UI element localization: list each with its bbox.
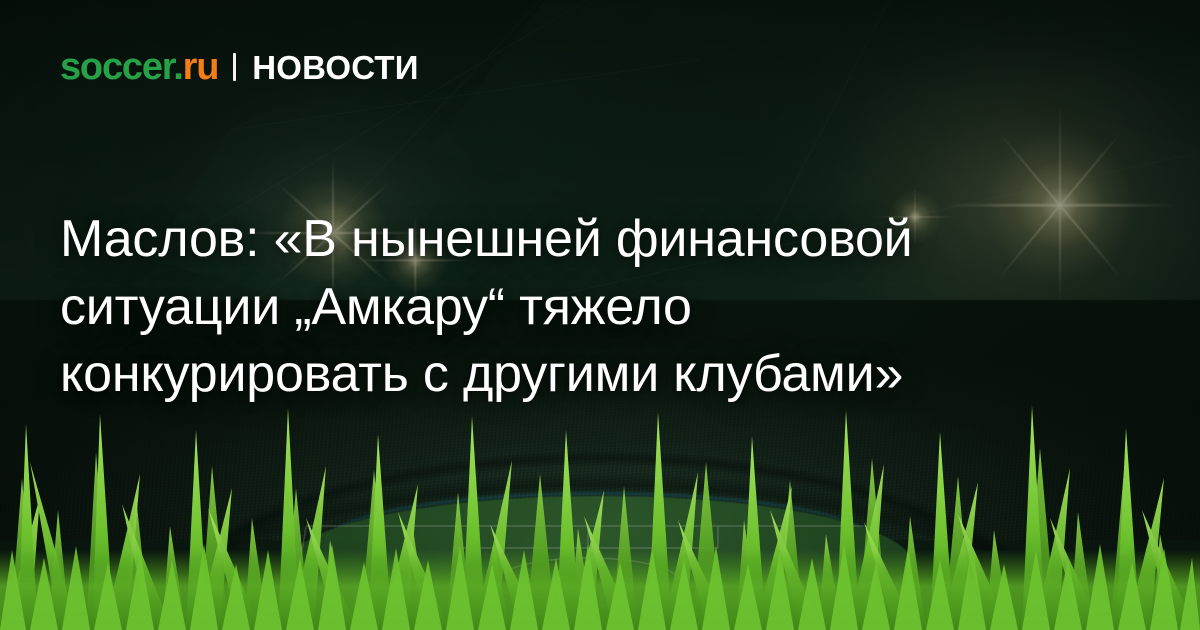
- logo-text-ru: ru: [183, 46, 219, 88]
- news-share-card: soccer.ru НОВОСТИ Маслов: «В нынешней фи…: [0, 0, 1200, 630]
- site-logo[interactable]: soccer.ru: [60, 48, 218, 86]
- brand-separator-icon: [233, 53, 236, 81]
- section-label-news[interactable]: НОВОСТИ: [252, 51, 418, 84]
- logo-text-dot: .: [173, 46, 182, 88]
- logo-text-soccer: soccer: [60, 46, 173, 88]
- headline-line-2: ситуации „Амкару“ тяжело: [60, 278, 692, 336]
- brand-bar: soccer.ru НОВОСТИ: [60, 48, 419, 86]
- page-title: Маслов: «В нынешней финансовой ситуации …: [60, 206, 1148, 409]
- card-content: soccer.ru НОВОСТИ Маслов: «В нынешней фи…: [0, 0, 1200, 630]
- headline-line-1: Маслов: «В нынешней финансовой: [60, 210, 913, 268]
- headline-line-3: конкурировать с другими клубами»: [60, 345, 903, 403]
